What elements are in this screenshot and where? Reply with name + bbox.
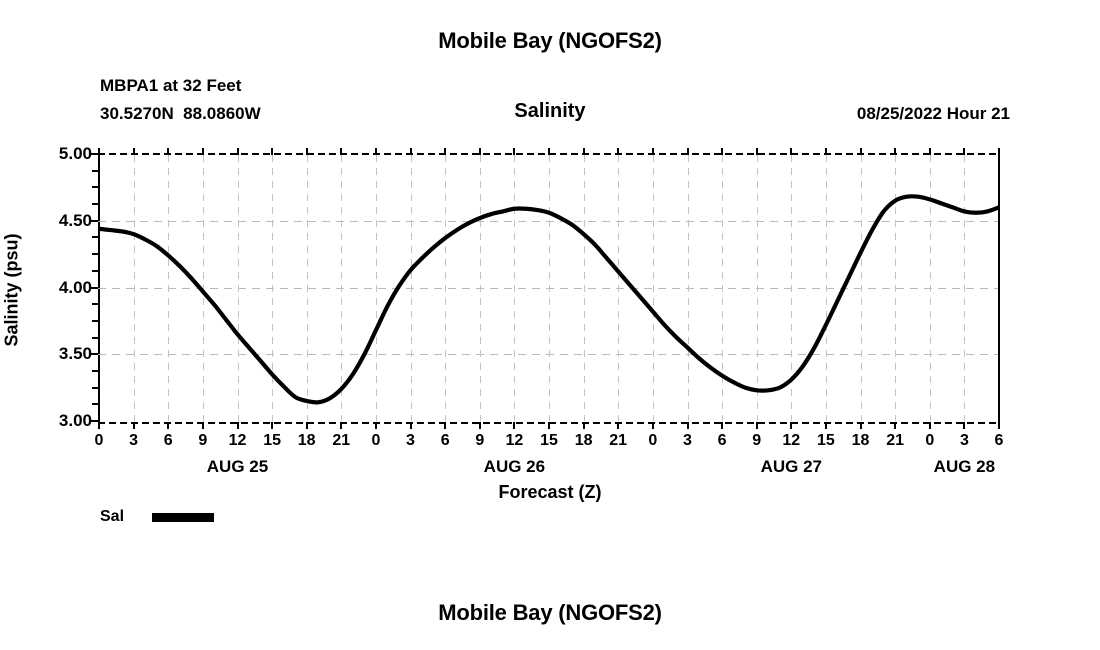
x-tick-label: 15 bbox=[257, 432, 287, 450]
x-tick-label: 3 bbox=[949, 432, 979, 450]
y-tick-major bbox=[90, 420, 98, 422]
x-axis-day-label: AUG 25 bbox=[168, 457, 308, 477]
series-path-sal bbox=[99, 196, 999, 402]
x-tick-label: 6 bbox=[430, 432, 460, 450]
y-tick-major bbox=[90, 220, 98, 222]
x-tick-label: 6 bbox=[984, 432, 1014, 450]
x-axis-day-label: AUG 26 bbox=[444, 457, 584, 477]
x-tick-label: 18 bbox=[569, 432, 599, 450]
salinity-line-series bbox=[98, 153, 1000, 424]
x-tick-label: 0 bbox=[361, 432, 391, 450]
legend-swatch-sal bbox=[152, 513, 214, 522]
y-tick-label: 3.50 bbox=[59, 344, 92, 364]
x-tick-label: 18 bbox=[292, 432, 322, 450]
y-tick-label: 4.00 bbox=[59, 278, 92, 298]
x-tick-label: 0 bbox=[84, 432, 114, 450]
x-tick-label: 12 bbox=[223, 432, 253, 450]
x-tick-label: 21 bbox=[880, 432, 910, 450]
plot-area bbox=[98, 153, 1000, 424]
x-tick-label: 21 bbox=[603, 432, 633, 450]
x-axis-day-label: AUG 27 bbox=[721, 457, 861, 477]
x-tick-label: 9 bbox=[742, 432, 772, 450]
x-tick-label: 15 bbox=[534, 432, 564, 450]
y-tick-label: 4.50 bbox=[59, 211, 92, 231]
x-tick-label: 3 bbox=[673, 432, 703, 450]
x-axis-day-label: AUG 28 bbox=[894, 457, 1034, 477]
y-tick-major bbox=[90, 353, 98, 355]
x-tick-label: 3 bbox=[119, 432, 149, 450]
x-tick-label: 6 bbox=[153, 432, 183, 450]
x-tick-label: 3 bbox=[396, 432, 426, 450]
footer-title: Mobile Bay (NGOFS2) bbox=[0, 600, 1100, 626]
y-tick-label: 3.00 bbox=[59, 411, 92, 431]
x-tick-label: 6 bbox=[707, 432, 737, 450]
x-tick-label: 12 bbox=[776, 432, 806, 450]
x-tick-label: 18 bbox=[846, 432, 876, 450]
x-tick-label: 12 bbox=[499, 432, 529, 450]
x-tick-label: 0 bbox=[915, 432, 945, 450]
x-tick-label: 9 bbox=[188, 432, 218, 450]
chart-page: Mobile Bay (NGOFS2) MBPA1 at 32 Feet 30.… bbox=[0, 0, 1100, 650]
x-tick-label: 0 bbox=[638, 432, 668, 450]
y-tick-major bbox=[90, 287, 98, 289]
x-tick-label: 9 bbox=[465, 432, 495, 450]
y-tick-major bbox=[90, 153, 98, 155]
x-tick-label: 15 bbox=[811, 432, 841, 450]
legend: Sal bbox=[100, 508, 214, 526]
x-tick-label: 21 bbox=[326, 432, 356, 450]
legend-label-sal: Sal bbox=[100, 508, 124, 526]
y-tick-label: 5.00 bbox=[59, 144, 92, 164]
